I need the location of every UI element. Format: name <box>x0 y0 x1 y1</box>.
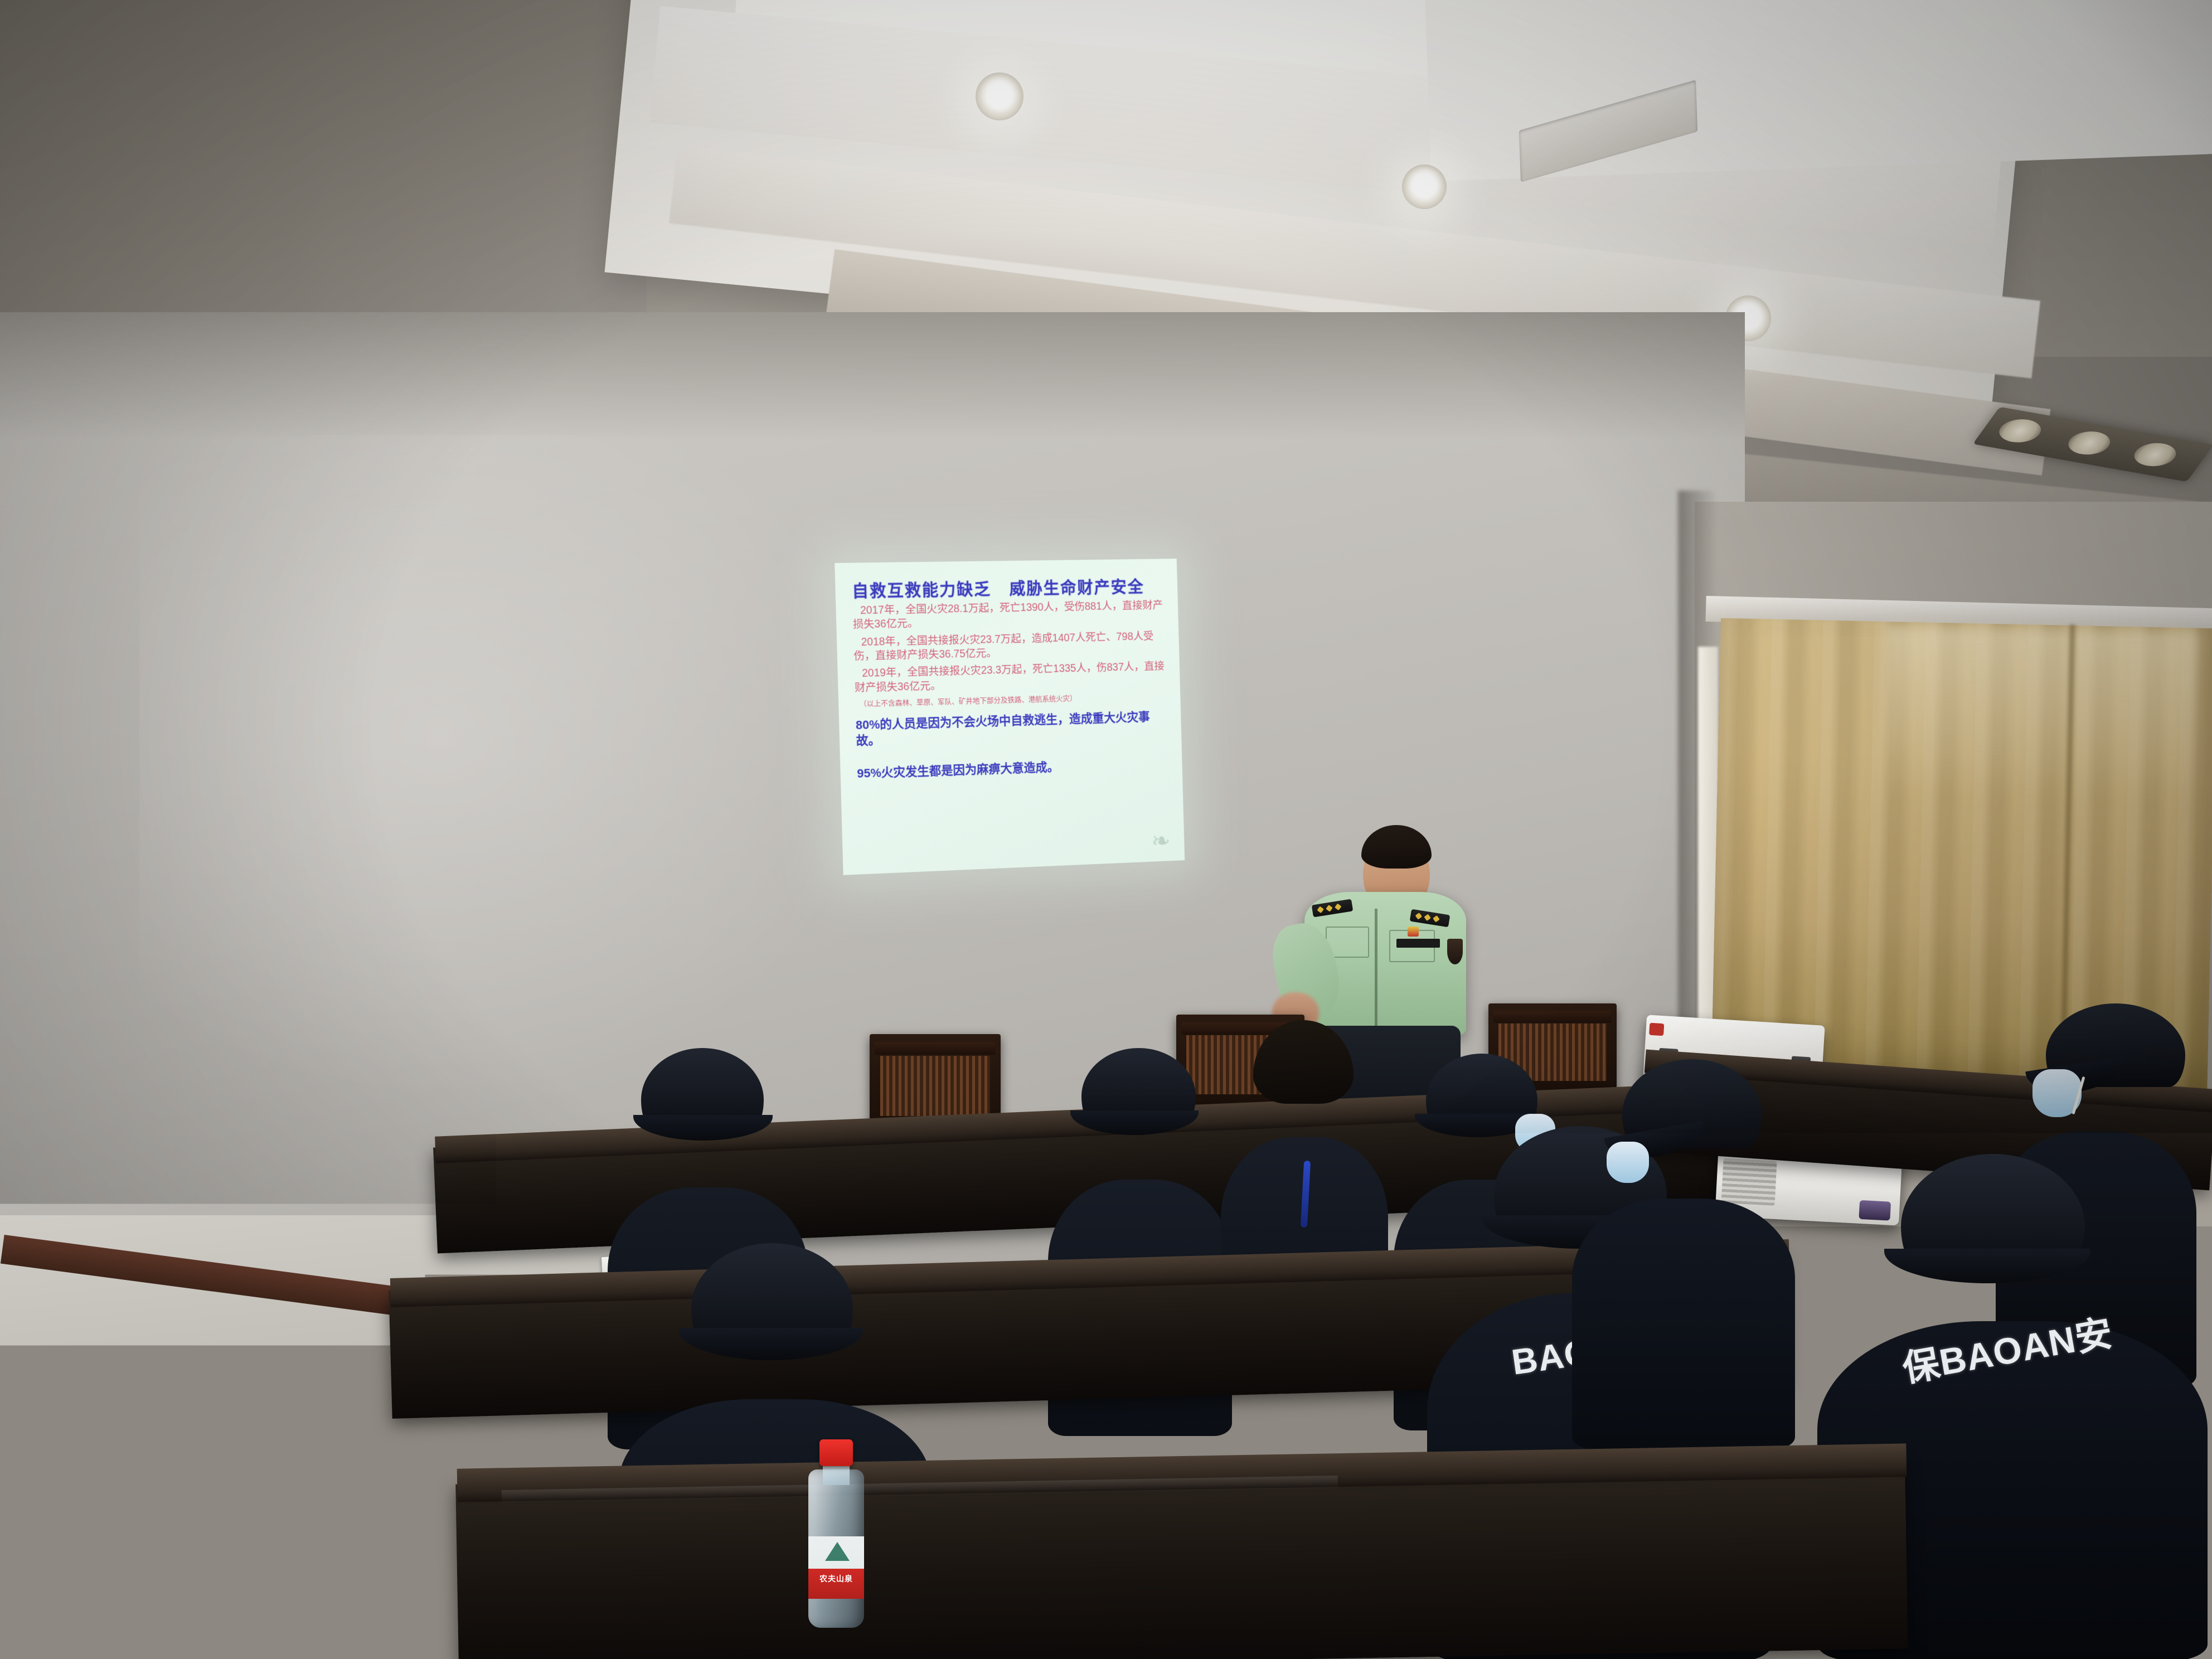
presenter-shoulder-patch-icon <box>1447 939 1463 964</box>
projection-screen: 自救互救能力缺乏威胁生命财产安全 2017年，全国火灾28.1万起，死亡1390… <box>835 559 1185 875</box>
slide-watermark-icon: ❧ <box>1144 824 1177 858</box>
case-latch-icon <box>1649 1023 1664 1036</box>
attendee-hair <box>1253 1020 1354 1104</box>
presenter-badge-icon <box>1408 926 1419 937</box>
slide-title-left: 自救互救能力缺乏 <box>852 580 991 601</box>
foreground-shirt <box>33 1539 513 1659</box>
slide-title: 自救互救能力缺乏威胁生命财产安全 <box>852 573 1165 602</box>
bottle-label: 农夫山泉 <box>808 1536 864 1599</box>
attendee-face-mask <box>1607 1142 1649 1183</box>
slide-title-right: 威胁生命财产安全 <box>1009 578 1144 598</box>
bottle-brand-name: 农夫山泉 <box>808 1573 864 1584</box>
presenter-hair <box>1361 825 1432 869</box>
attendee-cap-brim-icon <box>633 1115 773 1141</box>
conference-room-photo: 自救互救能力缺乏威胁生命财产安全 2017年，全国火灾28.1万起，死亡1390… <box>0 0 2212 1659</box>
slide-stat-2019: 2019年，全国共接报火灾23.3万起，死亡1335人，伤837人，直接财产损失… <box>854 660 1167 696</box>
downlight-icon-1 <box>976 72 1023 120</box>
wall-light-glow <box>139 435 892 1104</box>
slide-content: 自救互救能力缺乏威胁生命财产安全 2017年，全国火灾28.1万起，死亡1390… <box>835 559 1185 875</box>
ceiling-left-plane <box>0 0 647 312</box>
attendee-masked-midright <box>1572 1059 1795 1449</box>
slide-highlight-95: 95%火灾发生都是因为麻痹大意造成。 <box>857 755 1169 781</box>
downlight-icon-2 <box>1402 164 1447 209</box>
attendee-cap-brim-icon <box>679 1328 863 1360</box>
slide-highlight-80: 80%的人员是因为不会火场中自救逃生，造成重大火灾事故。 <box>856 709 1168 749</box>
presenter-name-tag <box>1396 939 1440 948</box>
presenter-shirt-placket <box>1375 909 1377 1034</box>
wall-top-shadow <box>0 312 1745 440</box>
slide-stat-2018: 2018年，全国共接报火灾23.7万起，造成1407人死亡、798人受伤，直接财… <box>853 629 1166 664</box>
mountain-logo-icon <box>825 1542 850 1561</box>
chair-slats <box>880 1056 990 1117</box>
slide-footnote: （以上不含森林、草原、军队、矿井地下部分及铁路、港航系统火灾） <box>860 692 1167 709</box>
water-bottle: 农夫山泉 <box>803 1438 870 1628</box>
slide-stat-2017: 2017年，全国火灾28.1万起，死亡1390人，受伤881人，直接财产损失36… <box>852 599 1165 632</box>
chair-top-rail <box>1493 1011 1612 1022</box>
attendee-cap-brim-icon <box>1070 1110 1199 1135</box>
attendee-torso <box>1572 1199 1795 1449</box>
attendee-cap-brim-icon <box>1884 1249 2090 1283</box>
foreground-attendee <box>33 1204 513 1659</box>
foreground-hair <box>67 1204 401 1516</box>
chair-top-rail <box>875 1042 995 1055</box>
bottle-cap <box>819 1439 853 1466</box>
curtain-highlight <box>1883 625 2198 799</box>
